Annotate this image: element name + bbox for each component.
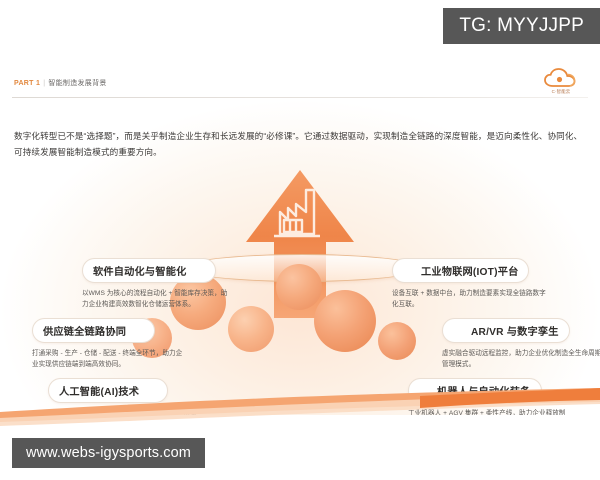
decor-sphere <box>378 322 416 360</box>
slide-canvas: 软件自动化与智能化 01 以WMS 为核心的流程自动化 + 智能库存决策，助力企… <box>0 0 600 480</box>
feature-item-04[interactable]: 04 工业物联网(IOT)平台 设备互联 + 数据中台，助力制造要素实现全链路数… <box>392 258 552 310</box>
feature-item-01[interactable]: 软件自动化与智能化 01 以WMS 为核心的流程自动化 + 智能库存决策，助力企… <box>82 258 234 310</box>
feature-desc: 以WMS 为核心的流程自动化 + 智能库存决策，助力企业构建高效数智化仓储运营体… <box>82 288 234 310</box>
part-label: PART 1 <box>14 80 40 87</box>
feature-item-02[interactable]: 供应链全链路协同 02 打通采购 - 生产 - 仓储 - 配送 - 终端全环节，… <box>32 318 184 370</box>
feature-item-05[interactable]: 05 AR/VR 与数字孪生 虚实融合驱动远程监控，助力企业优化制造全生命周期管… <box>442 318 600 370</box>
header-divider <box>12 97 588 98</box>
feature-desc: 虚实融合驱动远程监控，助力企业优化制造全生命周期管理模式。 <box>442 348 600 370</box>
feature-desc: 打通采购 - 生产 - 仓储 - 配送 - 终端全环节，助力企业实现供应链端到端… <box>32 348 184 370</box>
feature-number: 05 <box>427 315 460 348</box>
breadcrumb-separator: | <box>43 80 45 87</box>
feature-pill[interactable]: 04 工业物联网(IOT)平台 <box>392 258 529 283</box>
feature-pill[interactable]: 供应链全链路协同 02 <box>32 318 155 343</box>
page-title: 智能制造发展背景 <box>48 80 106 87</box>
breadcrumb: PART 1|智能制造发展背景 <box>14 78 107 88</box>
feature-title: 供应链全链路协同 <box>43 323 126 338</box>
feature-pill[interactable]: 软件自动化与智能化 01 <box>82 258 216 283</box>
brand-logo: C·智能云 <box>538 68 584 98</box>
feature-title: AR/VR 与数字孪生 <box>471 323 559 338</box>
decor-sphere <box>314 290 376 352</box>
intro-paragraph: 数字化转型已不是“选择题”，而是关乎制造企业生存和长远发展的“必修课”。它通过数… <box>14 128 586 160</box>
decor-sphere <box>228 306 274 352</box>
feature-number: 02 <box>137 315 170 348</box>
logo-text: C·智能云 <box>538 89 584 95</box>
center-artwork <box>210 168 390 408</box>
watermark-bottom-left: www.webs-igysports.com <box>12 438 205 468</box>
feature-pill[interactable]: 05 AR/VR 与数字孪生 <box>442 318 570 343</box>
bottom-swoosh-decoration <box>0 388 600 426</box>
watermark-top-right: TG: MYYJJPP <box>443 8 600 44</box>
feature-desc: 设备互联 + 数据中台，助力制造要素实现全链路数字化互联。 <box>392 288 552 310</box>
feature-number: 01 <box>198 255 231 288</box>
cloud-logo-icon <box>544 68 578 89</box>
feature-title: 工业物联网(IOT)平台 <box>421 263 518 278</box>
feature-title: 软件自动化与智能化 <box>93 263 187 278</box>
slide-body: 软件自动化与智能化 01 以WMS 为核心的流程自动化 + 智能库存决策，助力企… <box>0 60 600 415</box>
decor-sphere <box>276 264 322 310</box>
